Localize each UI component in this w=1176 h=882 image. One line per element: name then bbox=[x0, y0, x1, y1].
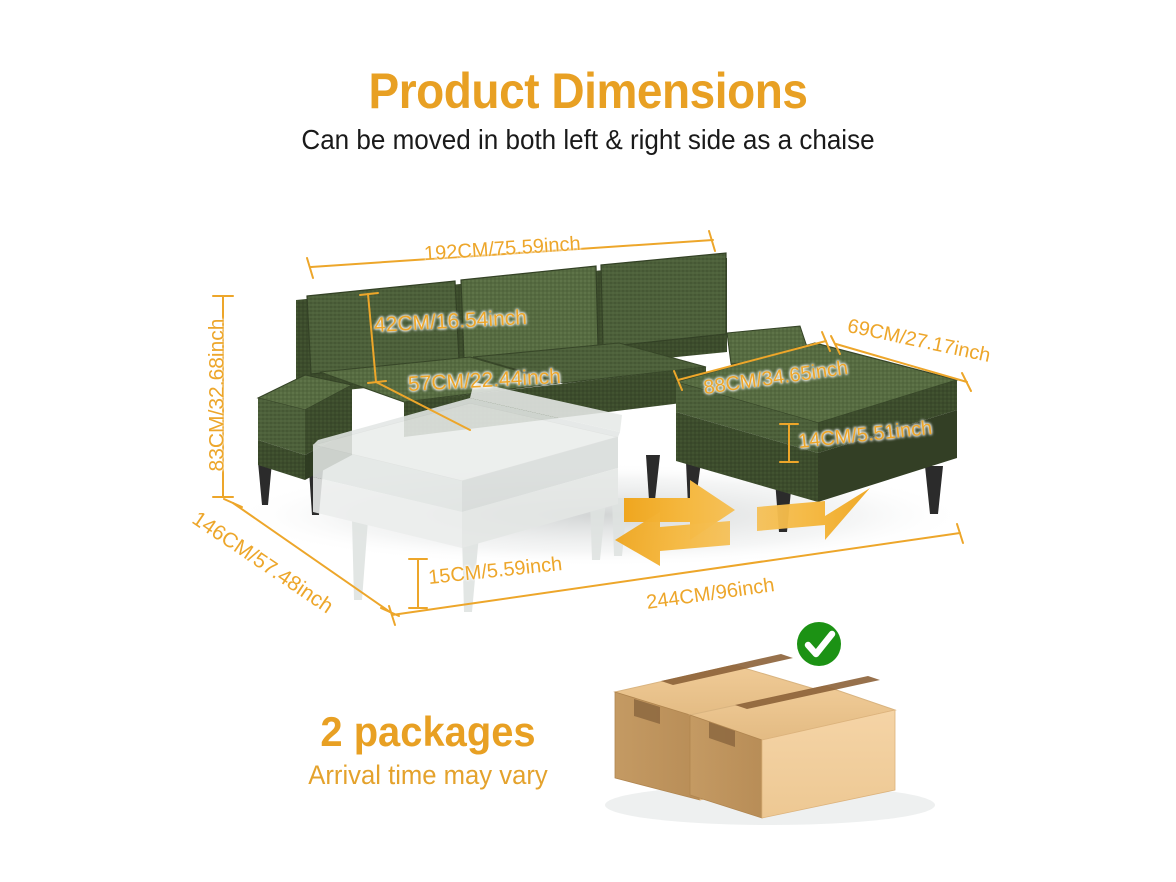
dimtick-chaise-depth-r bbox=[962, 373, 971, 391]
packages-illustration bbox=[605, 622, 935, 825]
packages-subtitle: Arrival time may vary bbox=[276, 760, 580, 791]
product-dimensions-infographic: Product Dimensions Can be moved in both … bbox=[0, 0, 1176, 882]
dimtick-side-depth-t bbox=[224, 499, 242, 507]
sofa-illustration bbox=[0, 0, 1176, 882]
dimtick-back-width-l bbox=[307, 258, 313, 278]
back-cushion-3 bbox=[601, 253, 726, 347]
dim-label-total-height: 83CM/32.68inch bbox=[205, 319, 229, 472]
check-circle-icon bbox=[797, 622, 841, 666]
packages-title: 2 packages bbox=[286, 708, 571, 756]
